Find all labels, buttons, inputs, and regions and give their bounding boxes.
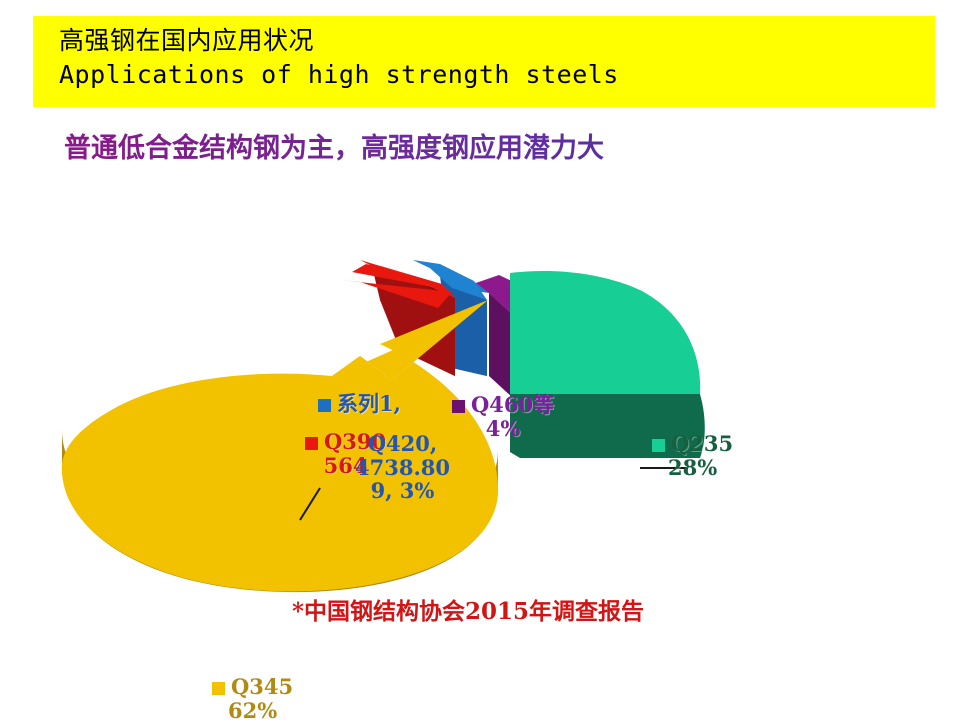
data-label-q420-line2: Q420, bbox=[368, 431, 437, 456]
legend-swatch-q235 bbox=[652, 439, 665, 452]
legend-swatch-q420 bbox=[318, 399, 331, 412]
slide-canvas: 高强钢在国内应用状况 Applications of high strength… bbox=[0, 0, 960, 720]
title-chinese: 高强钢在国内应用状况 bbox=[59, 24, 935, 58]
data-label-q420-line3: 4738.80 bbox=[355, 456, 450, 480]
data-label-q460: Q460等 4% bbox=[452, 393, 554, 440]
data-label-q345: Q345 62% bbox=[212, 675, 293, 722]
data-label-q235: Q235 28% bbox=[652, 432, 733, 479]
data-label-series1-line1: 系列1, bbox=[337, 391, 401, 416]
title-banner: 高强钢在国内应用状况 Applications of high strength… bbox=[33, 16, 935, 107]
footnote-text: *中国钢结构协会2015年调查报告 bbox=[292, 592, 644, 626]
data-label-q345-line2: 62% bbox=[212, 699, 293, 723]
data-label-q345-line1: Q345 bbox=[231, 674, 293, 699]
legend-swatch-q345 bbox=[212, 682, 225, 695]
data-label-q420-line4: 9, 3% bbox=[355, 479, 450, 503]
data-label-series1: 系列1, bbox=[318, 392, 401, 416]
data-label-q235-line1: Q235 bbox=[671, 431, 733, 456]
data-label-q420: Q420, 4738.80 9, 3% bbox=[355, 432, 450, 503]
data-label-q235-line2: 28% bbox=[652, 456, 733, 480]
legend-swatch-q460 bbox=[452, 400, 465, 413]
data-label-q460-line2: 4% bbox=[452, 417, 554, 441]
pie-chart: 系列1, Q390 564 Q420, 4738.80 9, 3% Q460等 … bbox=[0, 180, 960, 600]
data-label-q460-line1: Q460等 bbox=[471, 392, 554, 417]
legend-swatch-q390 bbox=[305, 437, 318, 450]
title-english: Applications of high strength steels bbox=[59, 58, 935, 92]
subtitle-text: 普通低合金结构钢为主，高强度钢应用潜力大 bbox=[64, 132, 604, 166]
pie-chart-graphic bbox=[0, 180, 960, 600]
